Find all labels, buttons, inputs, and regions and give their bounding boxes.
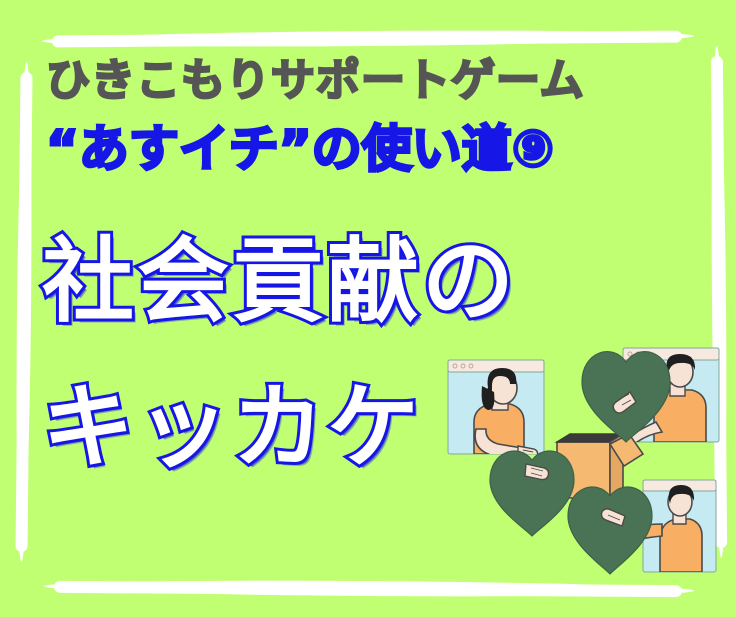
thumbnail-canvas: ひきこもりサポートゲーム “あすイチ”の使い道⑨ 社会貢献の キッカケ — [0, 0, 736, 617]
window-dots-left — [453, 364, 473, 368]
heart-left — [490, 451, 574, 536]
headline-line-2: キッカケ — [42, 378, 422, 478]
browser-window-left — [448, 360, 544, 459]
headline-line-1: 社会貢献の — [42, 232, 517, 332]
heart-bottom-right — [568, 487, 652, 574]
subtitle-line-2: “あすイチ”の使い道⑨ — [46, 120, 716, 178]
subtitle-line-1: ひきこもりサポートゲーム — [46, 55, 706, 107]
illustration-group — [430, 330, 736, 590]
